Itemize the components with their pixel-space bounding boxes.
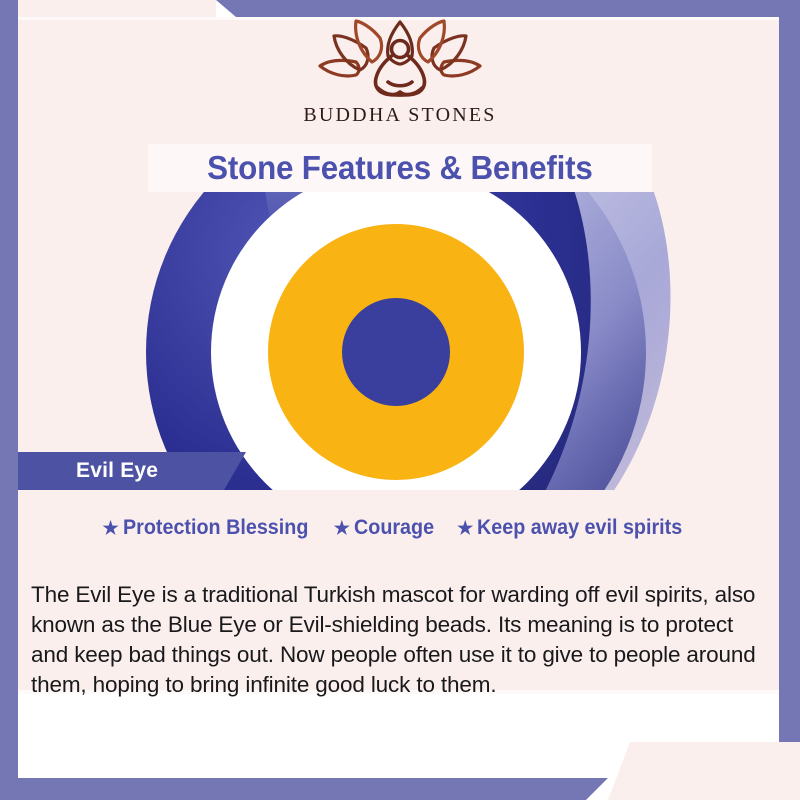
hero-label-text: Evil Eye <box>76 459 158 483</box>
benefit-item-courage: ★ Courage <box>334 516 439 540</box>
star-icon: ★ <box>102 519 118 537</box>
page-title: Stone Features & Benefits <box>207 149 592 187</box>
hero-image <box>108 192 733 490</box>
lotus-meditating-figure-icon <box>314 18 486 102</box>
infographic-page: BUDDHA STONES Stone Features & Benefits <box>0 0 800 800</box>
brand-wordmark: BUDDHA STONES <box>303 104 496 127</box>
benefit-label: Courage <box>354 516 434 540</box>
evil-eye-bead-illustration <box>108 192 733 490</box>
benefits-row: ★ Protection Blessing ★ Courage ★ Keep a… <box>18 516 780 540</box>
decor-band-top <box>216 0 800 17</box>
benefit-item-keep-away-evil-spirits: ★ Keep away evil spirits <box>457 516 695 540</box>
star-icon: ★ <box>457 519 473 537</box>
benefit-item-protection-blessing: ★ Protection Blessing <box>102 516 319 540</box>
title-bar: Stone Features & Benefits <box>148 144 652 192</box>
hero-label-banner: Evil Eye <box>18 452 246 490</box>
brand-header: BUDDHA STONES <box>0 18 800 140</box>
page-background-bottom-right <box>608 742 800 800</box>
page-background-top-left <box>0 0 216 17</box>
description-text: The Evil Eye is a traditional Turkish ma… <box>31 580 775 700</box>
star-icon: ★ <box>334 519 350 537</box>
benefit-label: Protection Blessing <box>123 516 308 540</box>
decor-band-bottom <box>0 778 608 800</box>
benefit-label: Keep away evil spirits <box>477 516 682 540</box>
